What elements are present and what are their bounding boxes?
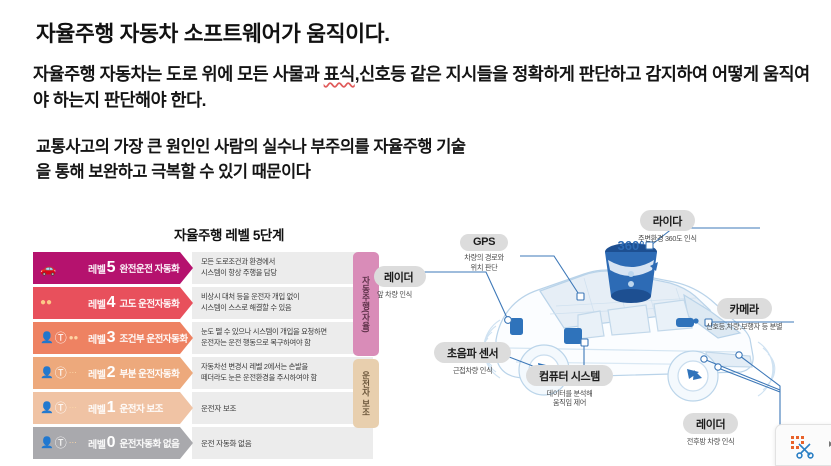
level-description-line: 운전 자동화 없음 xyxy=(201,438,373,449)
label-subtitle: 신호등,차량,보행자 등 분별 xyxy=(706,322,782,332)
level-name: 완전운전 자동화 xyxy=(120,261,180,275)
chart-title: 자율주행 레벨 5단계 xyxy=(33,224,373,244)
label-subtitle: 근접차량 인식 xyxy=(434,366,511,376)
diagram-label-lidar: 라이다 주변환경 360도 인식 xyxy=(638,210,697,243)
intro-paragraph-spellcheck-word: 표식 xyxy=(324,64,355,84)
level-description-line: 떼더라도 눈은 운전환경을 주시하여야 함 xyxy=(201,373,373,384)
label-title: 카메라 xyxy=(717,298,772,319)
level-description: 모든 도로조건과 환경에서 시스템이 항상 주행을 담당 xyxy=(192,252,373,284)
level-row: 👤Ⓣ⋯ 레벨 0 운전자동화 없음 운전 자동화 없음 xyxy=(33,427,373,459)
level-description: 자동차선 변경시 레벨 2에서는 손발을 떼더라도 눈은 운전환경을 주시하여야… xyxy=(192,357,373,389)
level-name: 운전자 보조 xyxy=(120,401,163,415)
autonomy-level-chart: 자율주행 레벨 5단계 🚗 레벨 5 완전운전 자동화 모든 도로조건과 환경에… xyxy=(33,224,373,456)
eyes-icon: ●● xyxy=(69,334,79,342)
label-title: GPS xyxy=(460,234,508,251)
label-subtitle: 주변환경 360도 인식 xyxy=(638,234,697,244)
reason-paragraph: 교통사고의 가장 큰 원인인 사람의 실수나 부주의를 자율주행 기술을 통해 … xyxy=(36,135,466,185)
label-subtitle: 차량의 경로와 위치 판단 xyxy=(460,253,508,272)
driver-icons-group: 👤Ⓣ⋯ xyxy=(40,402,88,414)
steering-wheel-icon: Ⓣ xyxy=(55,437,67,449)
level-badge-5: 🚗 레벨 5 완전운전 자동화 xyxy=(33,252,193,284)
intro-paragraph-part-1: 자율주행 자동차는 도로 위에 모든 사물과 xyxy=(33,64,324,84)
label-subtitle-line: 위치 판단 xyxy=(460,263,508,273)
diagram-label-computer-system: 컴퓨터 시스템 데이터를 분석해 움직임 제어 xyxy=(526,365,613,408)
dots-icon: ⋯ xyxy=(69,404,77,412)
level-description-line: 모든 도로조건과 환경에서 xyxy=(201,257,373,268)
level-badge-2: 👤Ⓣ⋯ 레벨 2 부분 운전자동화 xyxy=(33,357,193,389)
diagram-label-radar-front: 레이더 앞 차량 인식 xyxy=(374,266,426,299)
label-subtitle-line: 데이터를 분석해 xyxy=(526,389,613,399)
level-badge-1: 👤Ⓣ⋯ 레벨 1 운전자 보조 xyxy=(33,392,193,424)
level-row: 👤Ⓣ●● 레벨 3 조건부 운전자동화 눈도 뗄 수 있으나 시스템이 개입을 … xyxy=(33,322,373,354)
level-badge-0: 👤Ⓣ⋯ 레벨 0 운전자동화 없음 xyxy=(33,427,193,459)
side-label-assist: 운전자 보조 xyxy=(353,359,379,428)
snip-scissors-icon[interactable] xyxy=(790,435,816,459)
level-description-line: 시스템이 스스로 해결할 수 있음 xyxy=(201,303,373,314)
intro-paragraph: 자율주행 자동차는 도로 위에 모든 사물과 표식,신호등 같은 지시들을 정확… xyxy=(33,62,818,114)
level-number: 0 xyxy=(107,435,116,451)
level-description-line: 운전자 보조 xyxy=(201,403,373,414)
label-title: 레이더 xyxy=(683,413,738,434)
level-description-line: 자동차선 변경시 레벨 2에서는 손발을 xyxy=(201,362,373,373)
level-badge-4: ●● 레벨 4 고도 운전자동화 xyxy=(33,287,193,319)
label-title: 라이다 xyxy=(640,210,695,231)
car-icon: 🚗 xyxy=(40,262,88,275)
level-name: 부분 운전자동화 xyxy=(120,366,180,380)
person-icon: 👤 xyxy=(40,368,53,379)
label-title: 레이더 xyxy=(374,266,426,287)
level-name: 조건부 운전자동화 xyxy=(120,331,188,345)
level-word: 레벨 xyxy=(88,296,106,311)
label-subtitle-line: 차량의 경로와 xyxy=(460,253,508,263)
dots-icon: ⋯ xyxy=(69,439,77,447)
page-title: 자율주행 자동차 소프트웨어가 움직이다. xyxy=(36,17,390,48)
autonomous-car-sensor-diagram: 360° xyxy=(388,200,831,460)
steering-wheel-icon: Ⓣ xyxy=(55,402,67,414)
level-number: 3 xyxy=(107,330,116,346)
level-word: 레벨 xyxy=(88,401,106,416)
level-row: 🚗 레벨 5 완전운전 자동화 모든 도로조건과 환경에서 시스템이 항상 주행… xyxy=(33,252,373,284)
level-description: 비상시 대처 등을 운전자 개입 없이 시스템이 스스로 해결할 수 있음 xyxy=(192,287,373,319)
level-number: 5 xyxy=(107,260,116,276)
level-word: 레벨 xyxy=(88,366,106,381)
level-description-line: 시스템이 항상 주행을 담당 xyxy=(201,268,373,279)
diagram-label-ultrasonic: 초음파 센서 근접차량 인식 xyxy=(434,342,511,375)
label-subtitle: 전후방 차량 인식 xyxy=(683,437,738,447)
level-description: 눈도 뗄 수 있으나 시스템이 개입을 요청하면 운전자는 운전 행동으로 복구… xyxy=(192,322,373,354)
level-word: 레벨 xyxy=(88,261,106,276)
steering-wheel-icon: Ⓣ xyxy=(55,332,67,344)
driver-icons-group: 👤Ⓣ⋯ xyxy=(40,437,88,449)
diagram-label-radar-rear: 레이더 전후방 차량 인식 xyxy=(683,413,738,446)
driver-icons-group: 👤Ⓣ●● xyxy=(40,332,88,344)
dots-icon: ⋯ xyxy=(69,369,77,377)
level-row: 👤Ⓣ⋯ 레벨 1 운전자 보조 운전자 보조 xyxy=(33,392,373,424)
chart-rows: 🚗 레벨 5 완전운전 자동화 모든 도로조건과 환경에서 시스템이 항상 주행… xyxy=(33,252,373,459)
label-subtitle-line: 움직임 제어 xyxy=(526,398,613,408)
level-name: 운전자동화 없음 xyxy=(120,436,180,450)
level-description-line: 눈도 뗄 수 있으나 시스템이 개입을 요청하면 xyxy=(201,327,373,338)
level-description: 운전자 보조 xyxy=(192,392,373,424)
level-number: 2 xyxy=(107,365,116,381)
label-subtitle: 데이터를 분석해 움직임 제어 xyxy=(526,389,613,408)
diagram-label-camera: 카메라 신호등,차량,보행자 등 분별 xyxy=(706,298,782,331)
level-number: 4 xyxy=(107,295,116,311)
level-description: 운전 자동화 없음 xyxy=(192,427,373,459)
level-word: 레벨 xyxy=(88,331,106,346)
driver-icons-group: 👤Ⓣ⋯ xyxy=(40,367,88,379)
level-number: 1 xyxy=(107,400,116,416)
level-description-line: 운전자는 운전 행동으로 복구하여야 함 xyxy=(201,338,373,349)
level-name: 고도 운전자동화 xyxy=(120,296,180,310)
level-description-line: 비상시 대처 등을 운전자 개입 없이 xyxy=(201,292,373,303)
steering-wheel-icon: Ⓣ xyxy=(55,367,67,379)
person-icon: 👤 xyxy=(40,403,53,414)
diagram-label-gps: GPS 차량의 경로와 위치 판단 xyxy=(460,232,508,272)
person-icon: 👤 xyxy=(40,438,53,449)
label-title: 초음파 센서 xyxy=(434,342,511,363)
level-word: 레벨 xyxy=(88,436,106,451)
person-icon: 👤 xyxy=(40,333,53,344)
level-row: 👤Ⓣ⋯ 레벨 2 부분 운전자동화 자동차선 변경시 레벨 2에서는 손발을 떼… xyxy=(33,357,373,389)
label-subtitle: 앞 차량 인식 xyxy=(374,290,426,300)
level-badge-3: 👤Ⓣ●● 레벨 3 조건부 운전자동화 xyxy=(33,322,193,354)
radar-wave-right xyxy=(758,342,775,396)
label-title: 컴퓨터 시스템 xyxy=(526,365,613,386)
eyes-icon: ●● xyxy=(40,298,88,308)
level-row: ●● 레벨 4 고도 운전자동화 비상시 대처 등을 운전자 개입 없이 시스템… xyxy=(33,287,373,319)
